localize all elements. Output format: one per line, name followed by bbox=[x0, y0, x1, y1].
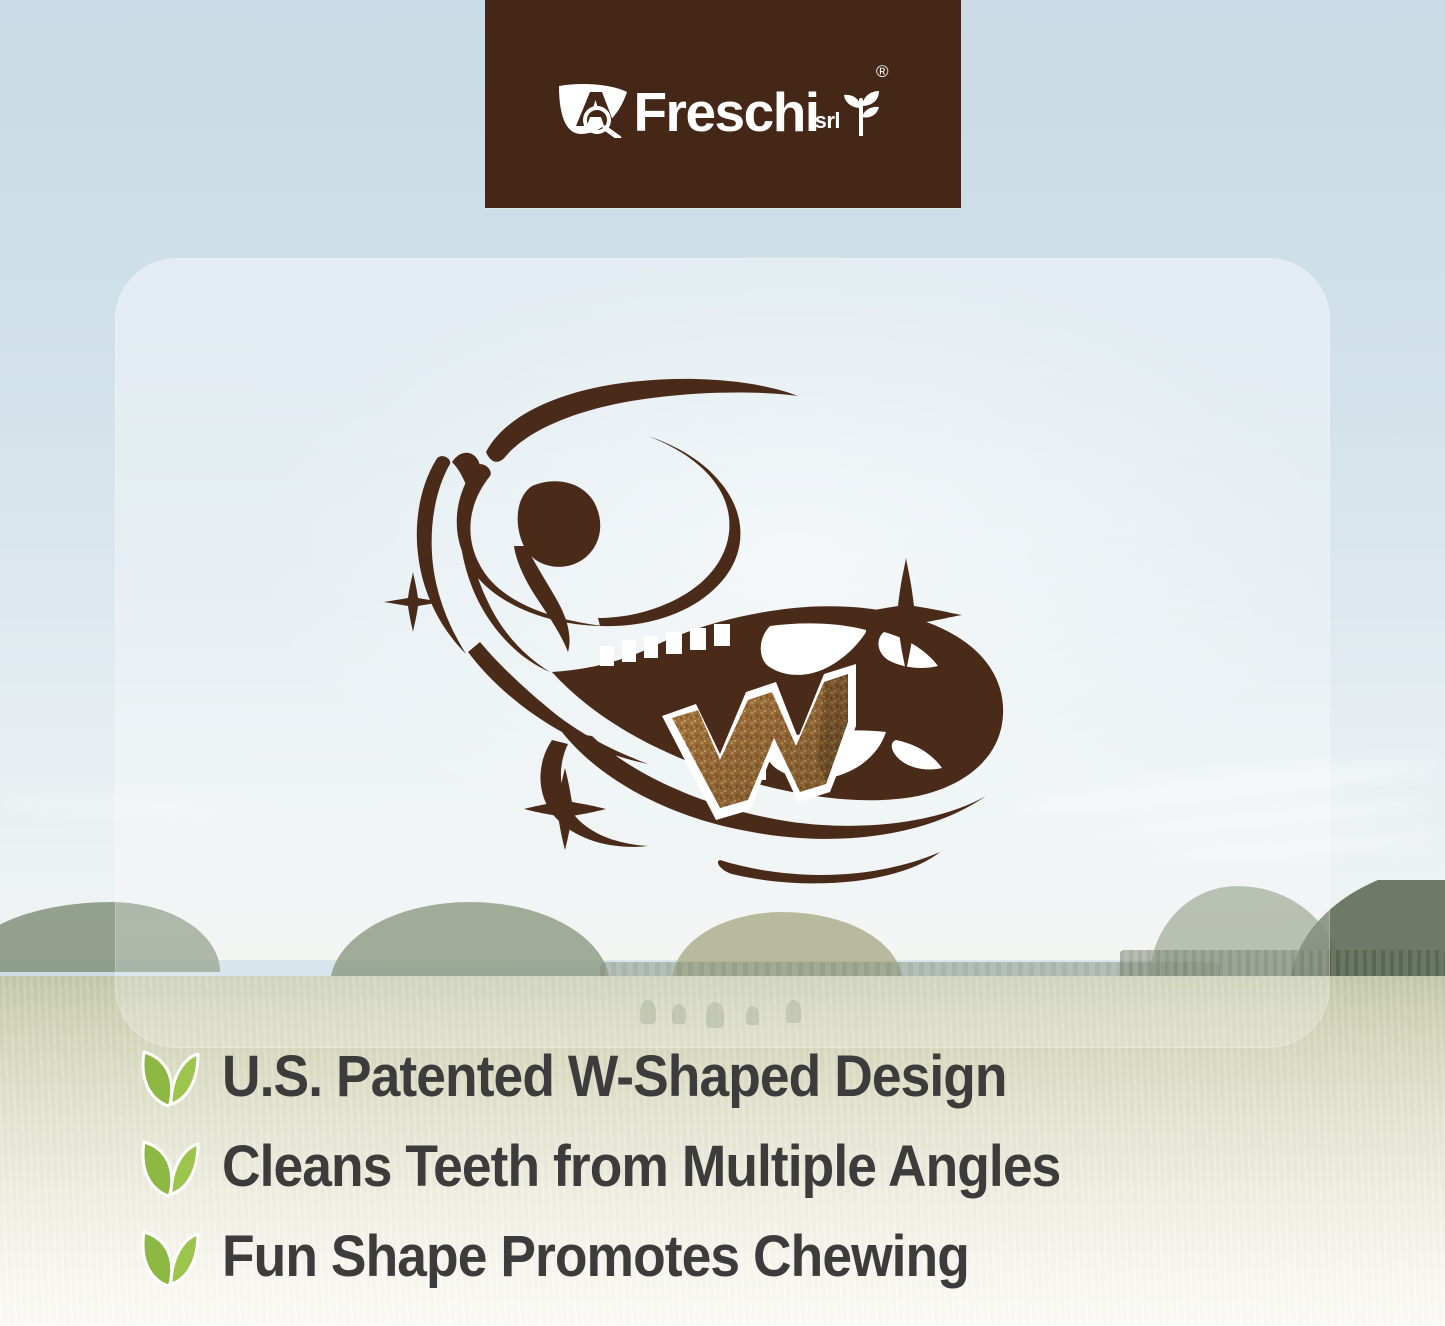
feature-item: U.S. Patented W-Shaped Design bbox=[138, 1040, 1438, 1112]
feature-list: U.S. Patented W-Shaped Design Cleans Tee… bbox=[138, 1040, 1438, 1306]
brand-banner: Freschi srl ® bbox=[485, 0, 961, 208]
leaf-with-a-and-magnifier-icon bbox=[557, 76, 631, 138]
sprout-icon bbox=[842, 86, 882, 136]
feature-label: Fun Shape Promotes Chewing bbox=[222, 1223, 969, 1290]
feature-item: Cleans Teeth from Multiple Angles bbox=[138, 1130, 1438, 1202]
registered-trademark-icon: ® bbox=[876, 62, 889, 82]
product-feature-graphic: Freschi srl ® U.S. Patented W-S bbox=[0, 0, 1445, 1326]
feature-item: Fun Shape Promotes Chewing bbox=[138, 1220, 1438, 1292]
brand-suffix: srl bbox=[815, 108, 840, 134]
leaf-pair-icon bbox=[138, 1040, 200, 1112]
feature-label: U.S. Patented W-Shaped Design bbox=[222, 1043, 1007, 1110]
brand-name: Freschi bbox=[633, 86, 818, 138]
afreschi-logo: Freschi srl ® bbox=[557, 64, 888, 138]
leaf-pair-icon bbox=[138, 1130, 200, 1202]
dog-chewing-illustration bbox=[300, 340, 1020, 940]
leaf-pair-icon bbox=[138, 1220, 200, 1292]
feature-label: Cleans Teeth from Multiple Angles bbox=[222, 1133, 1060, 1200]
